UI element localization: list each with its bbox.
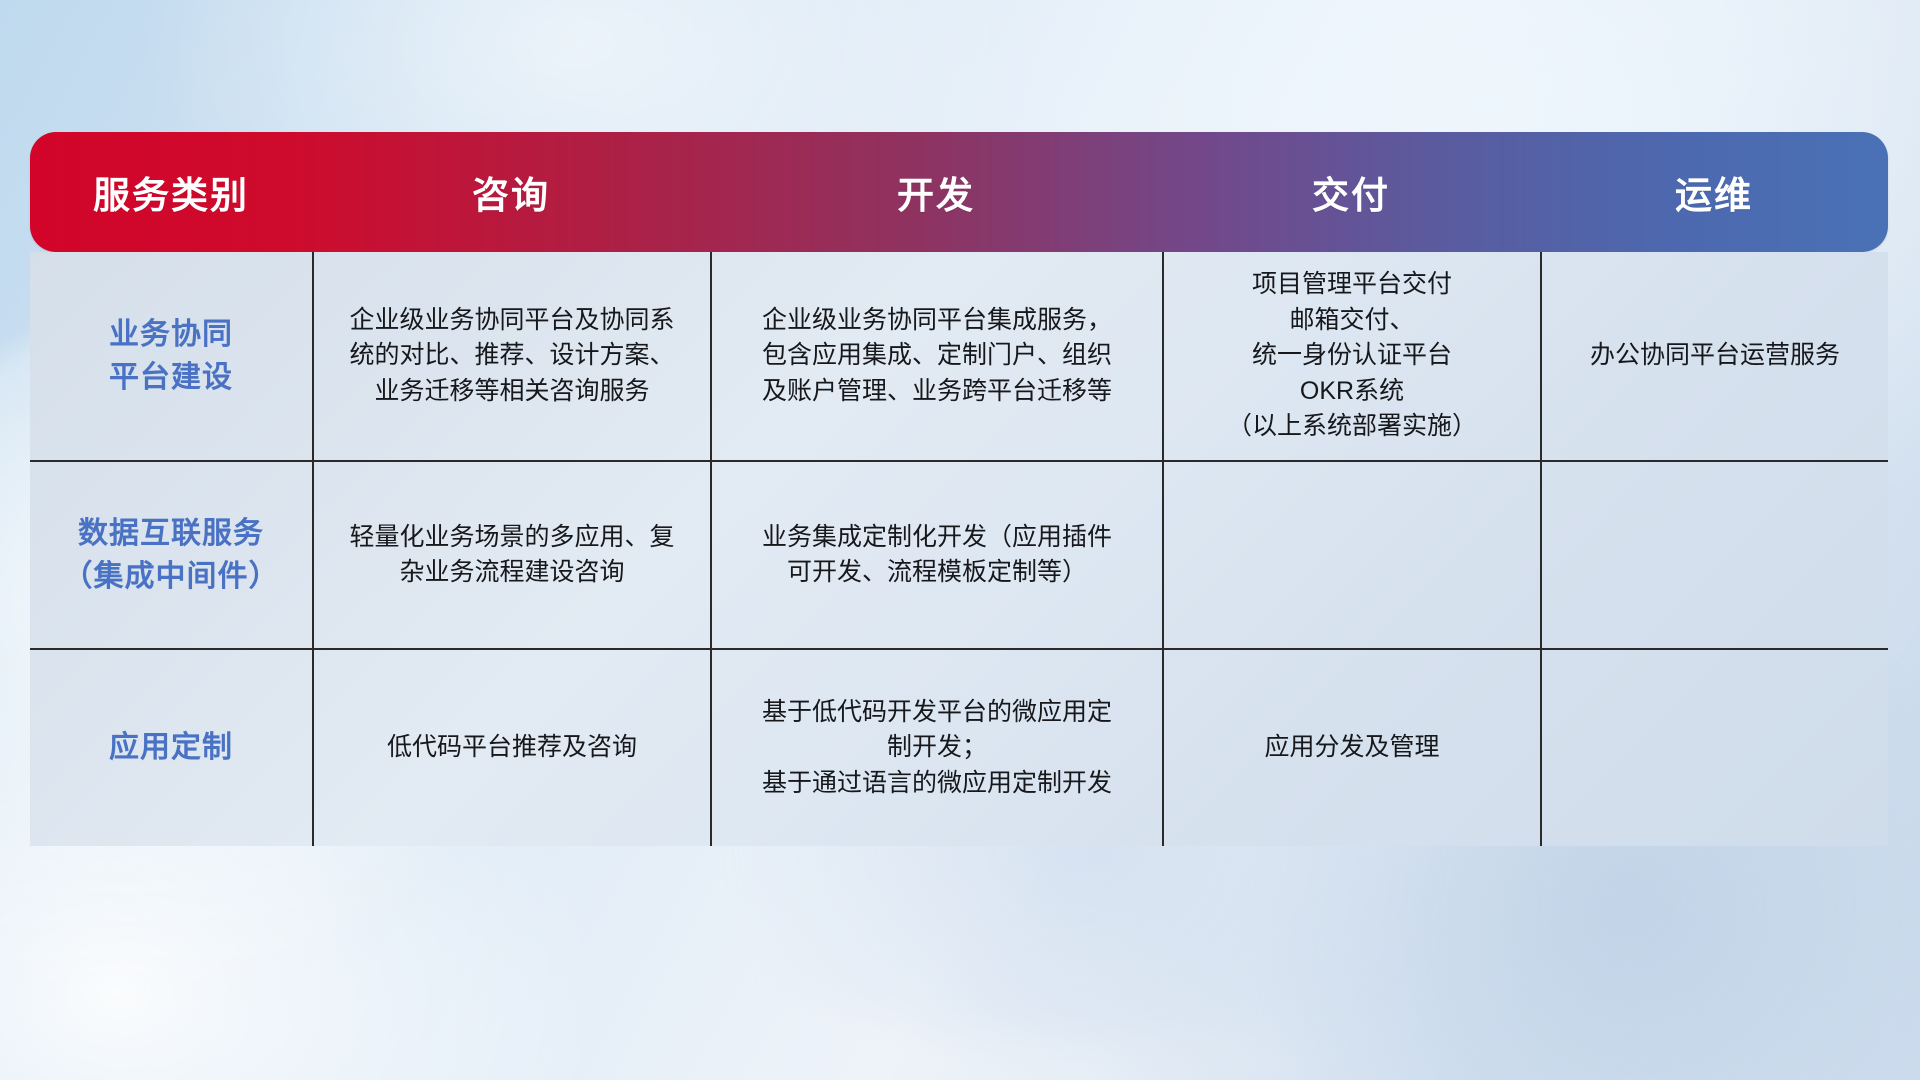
cell-development: 业务集成定制化开发（应用插件 可开发、流程模板定制等）: [710, 462, 1162, 648]
cell-delivery: 应用分发及管理: [1162, 650, 1540, 846]
row-category-label: 业务协同 平台建设: [30, 252, 312, 460]
service-matrix-table: 服务类别 咨询 开发 交付 运维 业务协同 平台建设 企业级业务协同平台及协同系…: [30, 132, 1888, 846]
cell-development: 企业级业务协同平台集成服务， 包含应用集成、定制门户、组织 及账户管理、业务跨平…: [710, 252, 1162, 460]
cell-consulting: 企业级业务协同平台及协同系 统的对比、推荐、设计方案、 业务迁移等相关咨询服务: [312, 252, 710, 460]
cell-operations: [1540, 650, 1888, 846]
table-body: 业务协同 平台建设 企业级业务协同平台及协同系 统的对比、推荐、设计方案、 业务…: [30, 252, 1888, 846]
row-category-label: 应用定制: [30, 650, 312, 846]
cell-operations: [1540, 462, 1888, 648]
column-header-development: 开发: [710, 132, 1162, 252]
table-header-row: 服务类别 咨询 开发 交付 运维: [30, 132, 1888, 252]
column-header-consulting: 咨询: [312, 132, 710, 252]
cell-delivery: 项目管理平台交付 邮箱交付、 统一身份认证平台 OKR系统 （以上系统部署实施）: [1162, 252, 1540, 460]
row-category-label: 数据互联服务 （集成中间件）: [30, 462, 312, 648]
column-header-category: 服务类别: [30, 132, 312, 252]
table-row: 数据互联服务 （集成中间件） 轻量化业务场景的多应用、复 杂业务流程建设咨询 业…: [30, 460, 1888, 648]
cell-operations: 办公协同平台运营服务: [1540, 252, 1888, 460]
column-header-delivery: 交付: [1162, 132, 1540, 252]
cell-delivery: [1162, 462, 1540, 648]
table-row: 业务协同 平台建设 企业级业务协同平台及协同系 统的对比、推荐、设计方案、 业务…: [30, 252, 1888, 460]
cell-consulting: 低代码平台推荐及咨询: [312, 650, 710, 846]
column-header-operations: 运维: [1540, 132, 1888, 252]
cell-development: 基于低代码开发平台的微应用定 制开发； 基于通过语言的微应用定制开发: [710, 650, 1162, 846]
table-row: 应用定制 低代码平台推荐及咨询 基于低代码开发平台的微应用定 制开发； 基于通过…: [30, 648, 1888, 846]
cell-consulting: 轻量化业务场景的多应用、复 杂业务流程建设咨询: [312, 462, 710, 648]
